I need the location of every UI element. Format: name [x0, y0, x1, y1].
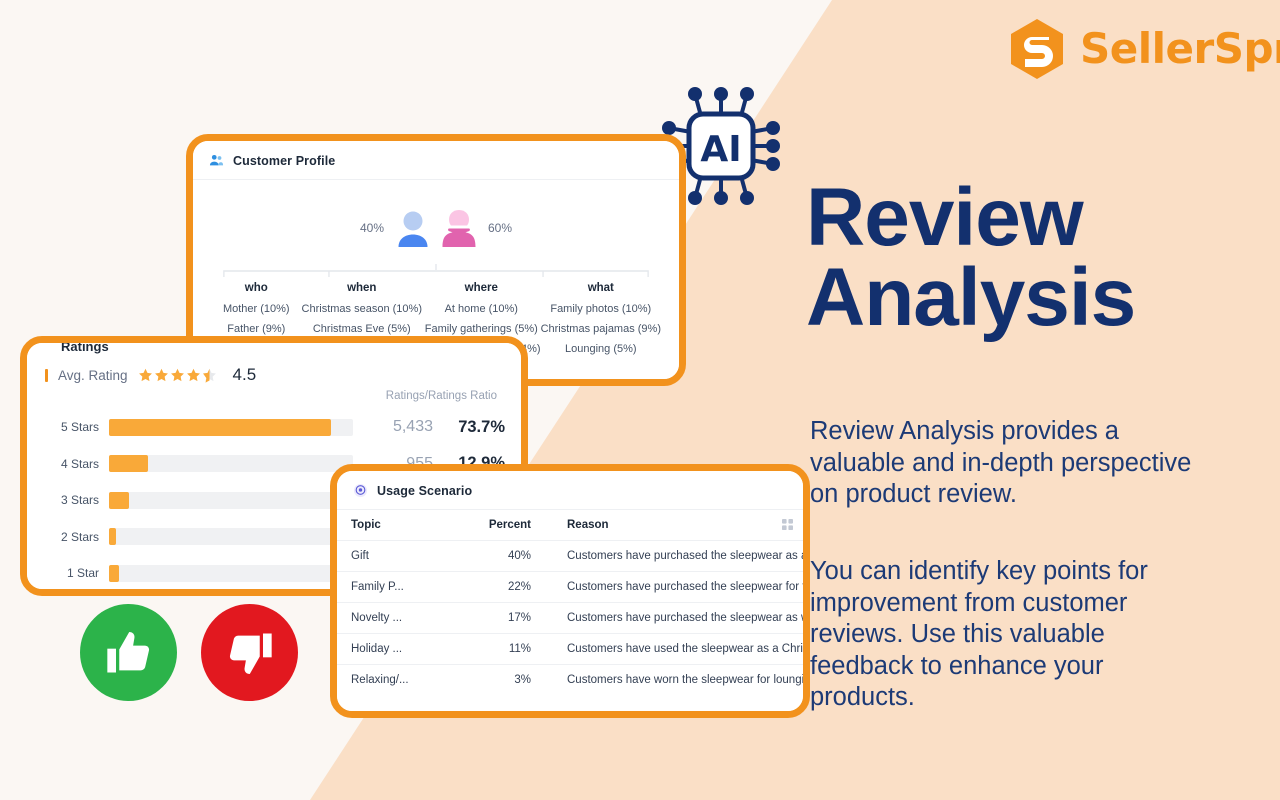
page-title: Review Analysis [806, 178, 1266, 339]
star-half-icon [202, 368, 217, 383]
table-header-row: Topic Percent Reason [337, 510, 803, 541]
average-rating-value: 4.5 [233, 365, 257, 385]
star-icon [138, 368, 153, 383]
column-header-reason-label: Reason [567, 519, 609, 531]
page-title-line-2: Analysis [806, 258, 1266, 338]
rating-bar-track [109, 528, 353, 545]
hero-paragraph-1: Review Analysis provides a valuable and … [810, 416, 1205, 511]
cell-reason: Customers have worn the sleepwear for lo… [553, 665, 803, 696]
profile-column-item: Father (9%) [211, 323, 302, 335]
profile-column-what: what Family photos (10%) Christmas pajam… [541, 282, 661, 363]
column-header-percent[interactable]: Percent [439, 510, 553, 541]
brand-logo[interactable]: SellerSprite [1008, 18, 1280, 80]
table-row[interactable]: Relaxing/... 3% Customers have worn the … [337, 665, 803, 696]
rating-bar-fill [109, 419, 331, 436]
usage-scenario-card[interactable]: Usage Scenario Topic Percent Reason [330, 464, 810, 718]
cell-percent: 22% [439, 572, 553, 603]
rating-bar-fill [109, 528, 116, 545]
column-header-reason[interactable]: Reason [553, 510, 803, 541]
grid-view-icon[interactable] [782, 519, 793, 530]
customer-profile-people-icon [209, 153, 224, 168]
poster-canvas: SellerSprite AI Review Analysis Review A… [0, 0, 1280, 800]
cell-topic: Holiday ... [337, 634, 439, 665]
profile-column-item: Christmas season (10%) [302, 303, 422, 315]
cell-topic: Novelty ... [337, 603, 439, 634]
rating-row-label: 2 Stars [27, 530, 109, 544]
column-header-topic[interactable]: Topic [337, 510, 439, 541]
rating-bar-track [109, 492, 353, 509]
cell-percent: 17% [439, 603, 553, 634]
usage-scenario-table: Topic Percent Reason Gift [337, 510, 803, 695]
female-percent: 60% [488, 221, 512, 235]
profile-column-item: Family gatherings (5%) [422, 323, 541, 335]
customer-profile-header: Customer Profile [193, 141, 679, 180]
table-row[interactable]: Gift 40% Customers have purchased the sl… [337, 541, 803, 572]
average-rating-label: Avg. Rating [58, 368, 128, 383]
profile-column-item: Lounging (5%) [541, 343, 661, 355]
profile-bracket-connector [217, 264, 655, 278]
usage-scenario-header: Usage Scenario [337, 471, 803, 510]
rating-bar-track [109, 455, 353, 472]
hero-paragraph-2: You can identify key points for improvem… [810, 556, 1205, 714]
female-avatar-icon [442, 208, 476, 248]
table-row[interactable]: Family P... 22% Customers have purchased… [337, 572, 803, 603]
rating-row-label: 1 Star [27, 566, 109, 580]
thumbs-up-button[interactable] [80, 604, 177, 701]
sellersprite-hexagon-s-logo-icon [1008, 18, 1066, 80]
star-icon [186, 368, 201, 383]
profile-column-header: when [302, 282, 422, 294]
thumbs-up-icon [103, 627, 155, 679]
ratings-ratio-header: Ratings/Ratings Ratio [386, 390, 497, 402]
star-icon [170, 368, 185, 383]
cell-reason: Customers have purchased the sleepwear f… [553, 572, 803, 603]
cell-topic: Gift [337, 541, 439, 572]
profile-column-item: Mother (10%) [211, 303, 302, 315]
male-percent: 40% [360, 221, 384, 235]
sentiment-icons [80, 604, 298, 701]
page-title-line-1: Review [806, 178, 1266, 258]
profile-column-item: Family photos (10%) [541, 303, 661, 315]
cell-reason: Customers have purchased the sleepwear a… [553, 541, 803, 572]
thumbs-down-button[interactable] [201, 604, 298, 701]
gender-split: 40% 60% [211, 206, 661, 250]
rating-bar-track [109, 565, 353, 582]
table-row[interactable]: Novelty ... 17% Customers have purchased… [337, 603, 803, 634]
profile-column-header: who [211, 282, 302, 294]
thumbs-down-icon [224, 627, 276, 679]
rating-bar-track [109, 419, 353, 436]
rating-bar-fill [109, 455, 148, 472]
brand-wordmark: SellerSprite [1080, 28, 1280, 70]
rating-row[interactable]: 5 Stars 5,433 73.7% [27, 409, 521, 446]
ratings-clipped-title: Ratings [61, 343, 109, 354]
customer-profile-title: Customer Profile [233, 154, 335, 168]
profile-column-item: Christmas pajamas (9%) [541, 323, 661, 335]
star-rating [138, 368, 217, 383]
usage-scenario-target-icon [353, 483, 368, 498]
cell-reason: Customers have purchased the sleepwear a… [553, 603, 803, 634]
rating-row-label: 3 Stars [27, 493, 109, 507]
rating-row-percent: 73.7% [433, 418, 521, 437]
profile-column-header: where [422, 282, 541, 294]
rating-row-count: 5,433 [369, 418, 433, 436]
table-row[interactable]: Holiday ... 11% Customers have used the … [337, 634, 803, 665]
cell-percent: 40% [439, 541, 553, 572]
profile-column-item: Christmas Eve (5%) [302, 323, 422, 335]
usage-scenario-title: Usage Scenario [377, 484, 472, 498]
rating-bar-fill [109, 565, 119, 582]
cell-topic: Family P... [337, 572, 439, 603]
star-icon [154, 368, 169, 383]
cell-reason: Customers have used the sleepwear as a C… [553, 634, 803, 665]
male-avatar-icon [396, 208, 430, 248]
rating-row-label: 5 Stars [27, 420, 109, 434]
ai-badge-label: AI [700, 129, 741, 170]
cell-topic: Relaxing/... [337, 665, 439, 696]
rating-row-label: 4 Stars [27, 457, 109, 471]
cell-percent: 3% [439, 665, 553, 696]
accent-bar [45, 369, 48, 382]
profile-column-header: what [541, 282, 661, 294]
rating-bar-fill [109, 492, 129, 509]
profile-column-item: At home (10%) [422, 303, 541, 315]
cell-percent: 11% [439, 634, 553, 665]
